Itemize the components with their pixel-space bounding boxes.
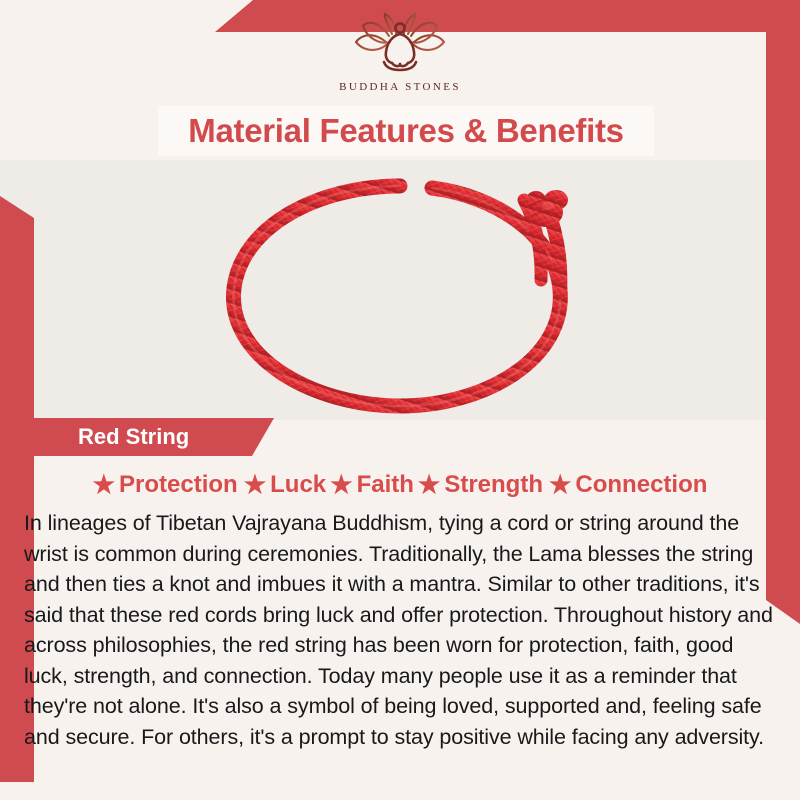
- brand-logo: BUDDHA STONES: [315, 12, 485, 93]
- star-icon: ★: [244, 473, 266, 498]
- feature-label: Protection: [119, 471, 238, 499]
- infographic-card: BUDDHA STONES Material Features & Benefi…: [0, 0, 800, 800]
- star-icon: ★: [549, 473, 571, 498]
- product-photo-red-string-bracelet: [0, 160, 800, 422]
- lotus-meditation-icon: [340, 12, 460, 80]
- star-icon: ★: [93, 473, 115, 498]
- feature-item-connection: ★ Connection: [549, 471, 707, 499]
- product-name-ribbon: Red String: [22, 418, 274, 456]
- product-name-label: Red String: [22, 424, 189, 450]
- feature-item-protection: ★ Protection: [93, 471, 238, 499]
- feature-list: ★ Protection ★ Luck ★ Faith ★ Strength ★…: [0, 466, 800, 504]
- card-header: BUDDHA STONES Material Features & Benefi…: [0, 0, 800, 160]
- brand-name: BUDDHA STONES: [315, 81, 485, 93]
- star-icon: ★: [418, 473, 440, 498]
- feature-label: Strength: [444, 471, 543, 499]
- star-icon: ★: [330, 473, 352, 498]
- feature-label: Connection: [575, 471, 707, 499]
- feature-item-strength: ★ Strength: [418, 471, 543, 499]
- title-plate: Material Features & Benefits: [158, 106, 654, 156]
- feature-label: Luck: [270, 471, 326, 499]
- description-paragraph: In lineages of Tibetan Vajrayana Buddhis…: [24, 508, 776, 752]
- page-title: Material Features & Benefits: [188, 112, 623, 150]
- feature-label: Faith: [357, 471, 414, 499]
- feature-item-faith: ★ Faith: [330, 471, 414, 499]
- feature-item-luck: ★ Luck: [244, 471, 326, 499]
